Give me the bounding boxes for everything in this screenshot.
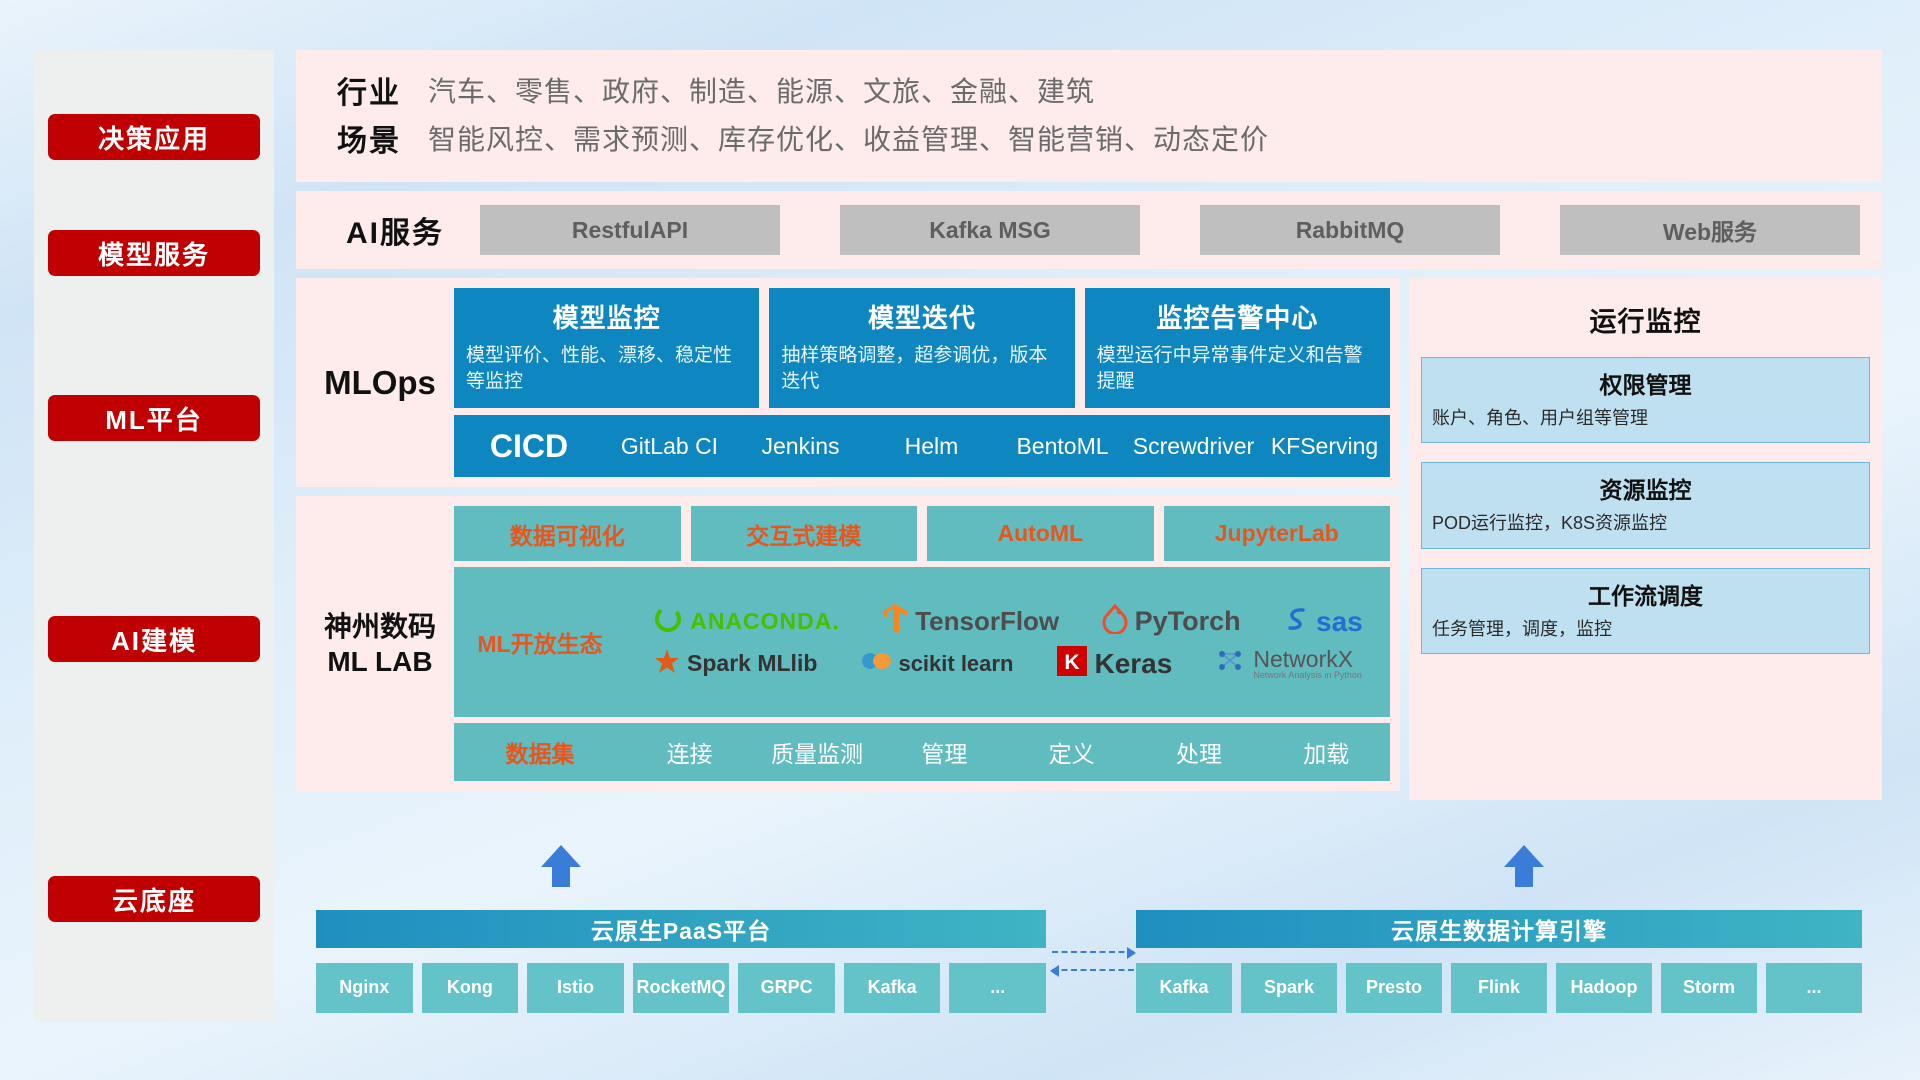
mlops-card-model-iteration[interactable]: 模型迭代 抽样策略调整，超参调优，版本迭代 bbox=[769, 288, 1074, 408]
layer-tag-cloud-base[interactable]: 云底座 bbox=[48, 876, 260, 922]
paas-chip-rocketmq[interactable]: RocketMQ bbox=[633, 963, 730, 1013]
sas-logo: sas bbox=[1283, 605, 1363, 638]
data-engine-chip-hadoop[interactable]: Hadoop bbox=[1556, 963, 1652, 1013]
spark-mllib-logo: Spark MLlib bbox=[654, 648, 817, 679]
scenario-values: 智能风控、需求预测、库存优化、收益管理、智能营销、动态定价 bbox=[428, 118, 1269, 158]
ai-service-label: AI服务 bbox=[310, 208, 480, 252]
mlops-content: 模型监控 模型评价、性能、漂移、稳定性等监控 模型迭代 抽样策略调整，超参调优，… bbox=[454, 288, 1390, 477]
card-desc: POD运行监控，K8S资源监控 bbox=[1432, 511, 1859, 535]
ml-open-ecosystem-box: ML开放生态 ANACONDA. bbox=[454, 567, 1390, 717]
paas-chip-kafka[interactable]: Kafka bbox=[844, 963, 941, 1013]
card-title: 权限管理 bbox=[1432, 366, 1859, 400]
dataset-item-connect[interactable]: 连接 bbox=[626, 735, 753, 769]
tab-interactive-modeling[interactable]: 交互式建模 bbox=[691, 506, 918, 561]
anaconda-logo: ANACONDA. bbox=[653, 604, 840, 639]
keras-logo: K Keras bbox=[1057, 646, 1172, 681]
scenario-label: 场景 bbox=[310, 116, 428, 160]
dataset-item-load[interactable]: 加载 bbox=[1263, 735, 1390, 769]
data-engine-chip-kafka[interactable]: Kafka bbox=[1136, 963, 1232, 1013]
layer-tag-ml-platform[interactable]: ML平台 bbox=[48, 395, 260, 441]
cicd-item-bentoml[interactable]: BentoML bbox=[997, 433, 1128, 459]
card-desc: 抽样策略调整，超参调优，版本迭代 bbox=[781, 343, 1062, 394]
dataset-item-manage[interactable]: 管理 bbox=[881, 735, 1008, 769]
left-layer-rail: 决策应用 模型服务 ML平台 AI建模 云底座 bbox=[34, 50, 274, 1022]
data-engine-chip-flink[interactable]: Flink bbox=[1451, 963, 1547, 1013]
ai-service-band: AI服务 RestfulAPI Kafka MSG RabbitMQ Web服务 bbox=[296, 191, 1882, 269]
scenario-row: 场景 智能风控、需求预测、库存优化、收益管理、智能营销、动态定价 bbox=[310, 116, 1868, 160]
mlops-card-model-monitoring[interactable]: 模型监控 模型评价、性能、漂移、稳定性等监控 bbox=[454, 288, 759, 408]
paas-chip-grpc[interactable]: GRPC bbox=[738, 963, 835, 1013]
networkx-graph-icon bbox=[1216, 647, 1246, 680]
cicd-item-gitlab-ci[interactable]: GitLab CI bbox=[604, 433, 735, 459]
industry-label: 行业 bbox=[310, 68, 428, 112]
card-title: 资源监控 bbox=[1432, 471, 1859, 505]
keras-logo-text: Keras bbox=[1094, 648, 1172, 680]
ai-service-chip-kafka-msg[interactable]: Kafka MSG bbox=[840, 205, 1140, 255]
industry-row: 行业 汽车、零售、政府、制造、能源、文旅、金融、建筑 bbox=[310, 68, 1868, 112]
tab-automl[interactable]: AutoML bbox=[927, 506, 1154, 561]
dashed-line-left bbox=[1052, 969, 1134, 971]
monitor-card-permission[interactable]: 权限管理 账户、角色、用户组等管理 bbox=[1421, 357, 1870, 443]
paas-chip-istio[interactable]: Istio bbox=[527, 963, 624, 1013]
ml-lab-label: 神州数码 ML LAB bbox=[306, 506, 454, 781]
ecosystem-logo-grid: ANACONDA. TensorFlow bbox=[626, 567, 1390, 717]
runtime-monitoring-column: 运行监控 权限管理 账户、角色、用户组等管理 资源监控 POD运行监控，K8S资… bbox=[1409, 278, 1882, 800]
networkx-logo: NetworkX Network Analysis in Python bbox=[1216, 647, 1362, 680]
tensorflow-logo-text: TensorFlow bbox=[915, 606, 1059, 637]
cicd-item-kfserving[interactable]: KFServing bbox=[1259, 433, 1390, 459]
spark-star-icon bbox=[654, 648, 680, 679]
ecosystem-logo-row-1: ANACONDA. TensorFlow bbox=[632, 603, 1384, 640]
layer-tag-label: 模型服务 bbox=[98, 235, 210, 272]
tab-data-visualization[interactable]: 数据可视化 bbox=[454, 506, 681, 561]
mlops-label-text: MLOps bbox=[324, 364, 436, 402]
data-engine-group: 云原生数据计算引擎 Kafka Spark Presto Flink Hadoo… bbox=[1136, 910, 1862, 1013]
dataset-row: 数据集 连接 质量监测 管理 定义 处理 加载 bbox=[454, 723, 1390, 781]
decision-apps-band: 行业 汽车、零售、政府、制造、能源、文旅、金融、建筑 场景 智能风控、需求预测、… bbox=[296, 50, 1882, 182]
card-desc: 账户、角色、用户组等管理 bbox=[1432, 406, 1859, 430]
platform-and-monitoring-wrap: MLOps 模型监控 模型评价、性能、漂移、稳定性等监控 模型迭代 抽样策略调整… bbox=[296, 278, 1882, 800]
ml-lab-content: 数据可视化 交互式建模 AutoML JupyterLab ML开放生态 bbox=[454, 506, 1390, 781]
arrow-up-data-engine bbox=[1504, 845, 1544, 887]
dataset-item-define[interactable]: 定义 bbox=[1008, 735, 1135, 769]
card-desc: 模型运行中异常事件定义和告警提醒 bbox=[1097, 343, 1378, 394]
pytorch-logo-text: PyTorch bbox=[1135, 606, 1241, 637]
mlops-card-alert-center[interactable]: 监控告警中心 模型运行中异常事件定义和告警提醒 bbox=[1085, 288, 1390, 408]
diagram-canvas: 决策应用 模型服务 ML平台 AI建模 云底座 行业 汽车、零售、政府、制造、能… bbox=[0, 0, 1920, 1080]
svg-text:K: K bbox=[1065, 651, 1080, 674]
ml-lab-label-line1: 神州数码 bbox=[324, 609, 436, 644]
ai-service-chip-rabbitmq[interactable]: RabbitMQ bbox=[1200, 205, 1500, 255]
paas-chip-kong[interactable]: Kong bbox=[422, 963, 519, 1013]
ai-service-chip-web-service[interactable]: Web服务 bbox=[1560, 205, 1860, 255]
data-engine-chip-presto[interactable]: Presto bbox=[1346, 963, 1442, 1013]
layer-tag-label: ML平台 bbox=[105, 400, 203, 437]
spark-mllib-logo-text: Spark MLlib bbox=[687, 650, 817, 677]
paas-chip-more[interactable]: ... bbox=[949, 963, 1046, 1013]
layer-tag-model-service[interactable]: 模型服务 bbox=[48, 230, 260, 276]
platform-stack: MLOps 模型监控 模型评价、性能、漂移、稳定性等监控 模型迭代 抽样策略调整… bbox=[296, 278, 1400, 800]
mlops-card-list: 模型监控 模型评价、性能、漂移、稳定性等监控 模型迭代 抽样策略调整，超参调优，… bbox=[454, 288, 1390, 408]
arrow-head-right-icon bbox=[1127, 947, 1136, 959]
anaconda-logo-text: ANACONDA. bbox=[690, 608, 840, 635]
data-engine-chip-spark[interactable]: Spark bbox=[1241, 963, 1337, 1013]
paas-platform-header: 云原生PaaS平台 bbox=[316, 910, 1046, 948]
data-engine-header: 云原生数据计算引擎 bbox=[1136, 910, 1862, 948]
dataset-item-quality-monitor[interactable]: 质量监测 bbox=[753, 735, 880, 769]
monitor-card-workflow[interactable]: 工作流调度 任务管理，调度，监控 bbox=[1421, 568, 1870, 654]
cicd-item-helm[interactable]: Helm bbox=[866, 433, 997, 459]
arrow-up-paas bbox=[541, 845, 581, 887]
card-desc: 任务管理，调度，监控 bbox=[1432, 617, 1859, 641]
dashed-line-right bbox=[1052, 951, 1134, 953]
ai-service-chip-list: RestfulAPI Kafka MSG RabbitMQ Web服务 bbox=[480, 205, 1868, 255]
tensorflow-logo: TensorFlow bbox=[882, 603, 1059, 640]
pytorch-flame-icon bbox=[1102, 604, 1128, 639]
scikit-learn-mark-icon bbox=[861, 648, 891, 679]
mlops-band: MLOps 模型监控 模型评价、性能、漂移、稳定性等监控 模型迭代 抽样策略调整… bbox=[296, 278, 1400, 487]
cicd-item-jenkins[interactable]: Jenkins bbox=[735, 433, 866, 459]
networkx-logo-text: NetworkX bbox=[1253, 648, 1362, 671]
ml-open-ecosystem-label: ML开放生态 bbox=[454, 567, 626, 717]
ai-modeling-band: 神州数码 ML LAB 数据可视化 交互式建模 AutoML JupyterLa… bbox=[296, 496, 1400, 791]
layer-tag-decision-apps[interactable]: 决策应用 bbox=[48, 114, 260, 160]
card-title: 模型迭代 bbox=[781, 298, 1062, 335]
sas-logo-text: sas bbox=[1316, 606, 1363, 638]
layer-tag-label: AI建模 bbox=[111, 621, 197, 658]
industry-values: 汽车、零售、政府、制造、能源、文旅、金融、建筑 bbox=[428, 70, 1095, 110]
tab-jupyterlab[interactable]: JupyterLab bbox=[1164, 506, 1391, 561]
ecosystem-logo-row-2: Spark MLlib scikit learn bbox=[632, 646, 1384, 681]
runtime-monitoring-band: 运行监控 权限管理 账户、角色、用户组等管理 资源监控 POD运行监控，K8S资… bbox=[1409, 278, 1882, 800]
keras-mark-icon: K bbox=[1057, 646, 1087, 681]
ml-lab-label-line2: ML LAB bbox=[324, 644, 436, 679]
anaconda-mark-icon bbox=[653, 604, 683, 639]
monitor-card-resource[interactable]: 资源监控 POD运行监控，K8S资源监控 bbox=[1421, 462, 1870, 548]
runtime-monitoring-title: 运行监控 bbox=[1421, 300, 1870, 339]
ml-lab-tab-list: 数据可视化 交互式建模 AutoML JupyterLab bbox=[454, 506, 1390, 561]
card-title: 模型监控 bbox=[466, 298, 747, 335]
cicd-title: CICD bbox=[454, 428, 604, 465]
data-engine-chip-list: Kafka Spark Presto Flink Hadoop Storm ..… bbox=[1136, 963, 1862, 1013]
main-stack: 行业 汽车、零售、政府、制造、能源、文旅、金融、建筑 场景 智能风控、需求预测、… bbox=[296, 50, 1882, 800]
layer-tag-label: 决策应用 bbox=[98, 119, 210, 156]
paas-chip-nginx[interactable]: Nginx bbox=[316, 963, 413, 1013]
layer-tag-label: 云底座 bbox=[112, 881, 196, 918]
dataset-item-list: 连接 质量监测 管理 定义 处理 加载 bbox=[626, 735, 1390, 769]
cicd-row: CICD GitLab CI Jenkins Helm BentoML Scre… bbox=[454, 415, 1390, 477]
data-engine-chip-storm[interactable]: Storm bbox=[1661, 963, 1757, 1013]
cicd-item-list: GitLab CI Jenkins Helm BentoML Screwdriv… bbox=[604, 433, 1390, 459]
scikit-learn-logo: scikit learn bbox=[861, 648, 1013, 679]
card-desc: 模型评价、性能、漂移、稳定性等监控 bbox=[466, 343, 747, 394]
paas-platform-group: 云原生PaaS平台 Nginx Kong Istio RocketMQ GRPC… bbox=[316, 910, 1046, 1013]
dataset-item-process[interactable]: 处理 bbox=[1135, 735, 1262, 769]
pytorch-logo: PyTorch bbox=[1102, 604, 1241, 639]
arrow-head-left-icon bbox=[1050, 965, 1059, 977]
card-title: 工作流调度 bbox=[1432, 577, 1859, 611]
paas-chip-list: Nginx Kong Istio RocketMQ GRPC Kafka ... bbox=[316, 963, 1046, 1013]
layer-tag-ai-modeling[interactable]: AI建模 bbox=[48, 616, 260, 662]
networkx-logo-subtext: Network Analysis in Python bbox=[1253, 671, 1362, 680]
data-engine-chip-more[interactable]: ... bbox=[1766, 963, 1862, 1013]
mlops-label: MLOps bbox=[306, 288, 454, 477]
cloud-base-section: 云原生PaaS平台 Nginx Kong Istio RocketMQ GRPC… bbox=[296, 880, 1882, 1040]
card-title: 监控告警中心 bbox=[1097, 298, 1378, 335]
cicd-item-screwdriver[interactable]: Screwdriver bbox=[1128, 433, 1259, 459]
dataset-label: 数据集 bbox=[454, 735, 626, 769]
ai-service-chip-restfulapi[interactable]: RestfulAPI bbox=[480, 205, 780, 255]
sas-swirl-icon bbox=[1283, 605, 1309, 638]
scikit-learn-logo-text: scikit learn bbox=[898, 651, 1013, 677]
bidirectional-link bbox=[1052, 935, 1134, 987]
tensorflow-mark-icon bbox=[882, 603, 908, 640]
